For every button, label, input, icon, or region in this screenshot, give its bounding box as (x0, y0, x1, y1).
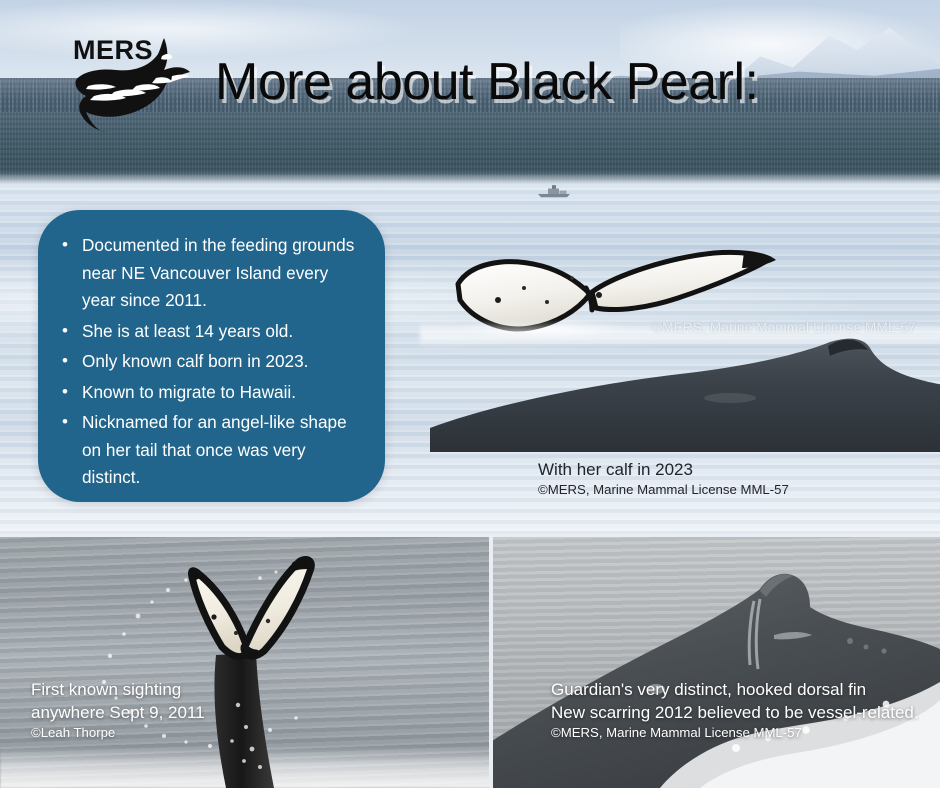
caption-line: anywhere Sept 9, 2011 (31, 702, 205, 725)
panel-divider-vertical (489, 537, 493, 788)
boat-icon (536, 184, 572, 198)
caption-credit: ©MERS, Marine Mammal License MML-57 (551, 724, 919, 742)
mers-whale-logo-icon: MERS (72, 26, 204, 134)
fact-box: Documented in the feeding grounds near N… (38, 210, 385, 502)
main-photo-caption: With her calf in 2023 ©MERS, Marine Mamm… (538, 459, 789, 499)
caption-credit: ©Leah Thorpe (31, 724, 205, 742)
bottom-left-caption: First known sighting anywhere Sept 9, 20… (31, 679, 205, 742)
whale-back-photo-element (430, 332, 940, 452)
list-item: Nicknamed for an angel-like shape on her… (60, 409, 365, 492)
fact-list: Documented in the feeding grounds near N… (38, 210, 385, 492)
photo-watermark: ©MERS, Marine Mammal License MML-57 (652, 320, 916, 335)
whale-tail-photo-element (140, 555, 330, 788)
list-item: She is at least 14 years old. (60, 318, 365, 346)
cloud-shape (0, 0, 420, 58)
caption-line: First known sighting (31, 679, 205, 702)
list-item: Known to migrate to Hawaii. (60, 379, 365, 407)
caption-line: With her calf in 2023 (538, 459, 789, 481)
caption-line: New scarring 2012 believed to be vessel-… (551, 702, 919, 725)
panel-divider-horizontal (0, 534, 940, 537)
page-title: More about Black Pearl: (215, 52, 758, 112)
list-item: Only known calf born in 2023. (60, 348, 365, 376)
caption-credit: ©MERS, Marine Mammal License MML-57 (538, 481, 789, 499)
bottom-right-caption: Guardian's very distinct, hooked dorsal … (551, 679, 919, 742)
svg-text:MERS: MERS (73, 35, 153, 65)
main-photo-panel: MERS More about Black Pearl: Documented … (0, 0, 940, 537)
list-item: Documented in the feeding grounds near N… (60, 232, 365, 315)
poster-root: MERS More about Black Pearl: Documented … (0, 0, 940, 788)
caption-line: Guardian's very distinct, hooked dorsal … (551, 679, 919, 702)
